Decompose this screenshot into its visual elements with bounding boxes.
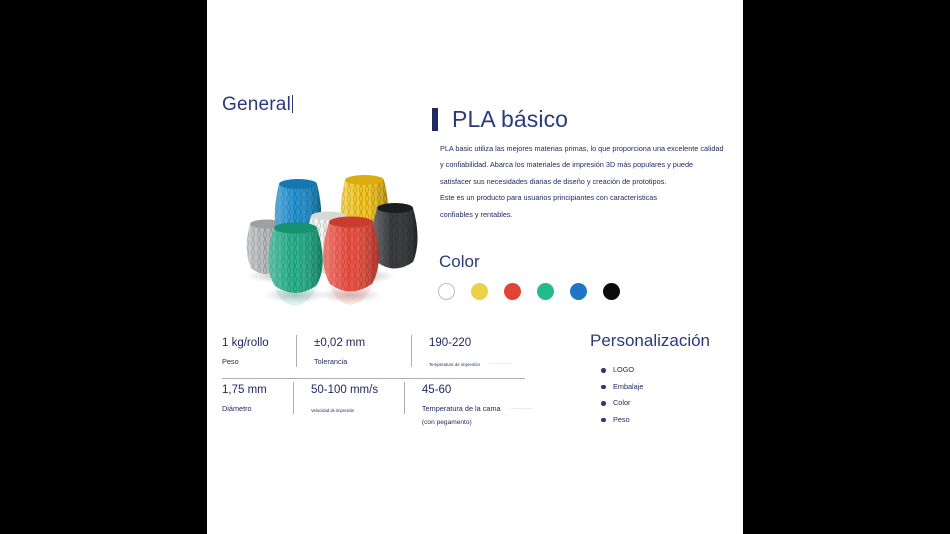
description-line-1: PLA basic utiliza las mejores materias p… <box>440 141 730 157</box>
spec-value-temperatura-cama: 45-60 <box>422 383 533 397</box>
personalizacion-item-embalaje: Embalaje <box>613 382 643 391</box>
spec-value-diametro: 1,75 mm <box>222 383 293 397</box>
color-swatch-blanco[interactable] <box>438 283 455 300</box>
spec-note-temperatura-cama: ——————— <box>511 403 533 414</box>
specifications-table: 1 kg/rollo Peso ±0,02 mm Tolerancia 190-… <box>221 332 533 433</box>
spec-label-velocidad-impresion: Velocidad de impresión <box>311 405 404 416</box>
letterbox-bar-left <box>0 0 207 534</box>
accent-bar-icon <box>432 108 438 131</box>
spec-value-temperatura-impresion: 190-220 <box>429 336 533 350</box>
color-swatch-amarillo[interactable] <box>471 283 488 300</box>
color-swatch-list <box>438 283 620 300</box>
spec-cell-temperatura-cama: 45-60 Temperatura de la cama——————— (con… <box>404 379 533 433</box>
spec-label-temperatura-cama-text: Temperatura de la cama <box>422 404 501 413</box>
spec-label-temperatura-impresion: Temperatura de impresión——————— <box>429 358 533 370</box>
bullet-icon <box>601 385 606 390</box>
list-item: Embalaje <box>601 379 735 396</box>
spec-label-tolerancia: Tolerancia <box>314 356 411 367</box>
personalizacion-section: Personalización LOGO Embalaje Color Peso <box>590 331 735 428</box>
spec-cell-diametro: 1,75 mm Diámetro <box>221 379 293 433</box>
personalizacion-item-logo: LOGO <box>613 365 634 374</box>
color-swatch-azul[interactable] <box>570 283 587 300</box>
personalizacion-item-color: Color <box>613 398 630 407</box>
spec-value-tolerancia: ±0,02 mm <box>314 336 411 350</box>
spec-cell-temperatura-impresion: 190-220 Temperatura de impresión——————— <box>411 332 533 378</box>
spec-label-diametro: Diámetro <box>222 403 293 414</box>
product-title-row: PLA básico <box>432 106 568 133</box>
page-title-general[interactable]: General <box>222 94 293 116</box>
spec-cell-peso: 1 kg/rollo Peso <box>221 332 296 378</box>
description-line-2: y confiabilidad. Abarca los materiales d… <box>440 157 730 173</box>
letterbox-bar-right <box>743 0 950 534</box>
color-section-heading: Color <box>439 252 480 272</box>
spec-cell-velocidad-impresion: 50-100 mm/s Velocidad de impresión <box>293 379 404 433</box>
spec-row-2: 1,75 mm Diámetro 50-100 mm/s Velocidad d… <box>221 379 533 433</box>
list-item: LOGO <box>601 362 735 379</box>
spec-cell-tolerancia: ±0,02 mm Tolerancia <box>296 332 411 378</box>
spec-label-temperatura-impresion-text: Temperatura de impresión <box>429 362 480 367</box>
list-item: Peso <box>601 412 735 429</box>
spec-row-1: 1 kg/rollo Peso ±0,02 mm Tolerancia 190-… <box>221 332 533 378</box>
personalizacion-heading: Personalización <box>590 331 735 351</box>
document-page: General <box>207 0 743 534</box>
spec-note-temperatura-impresion: ——————— <box>490 358 512 369</box>
general-heading-text: General <box>222 94 291 115</box>
description-line-3: satisfacer sus necesidades diarias de di… <box>440 174 730 190</box>
bullet-icon <box>601 418 606 423</box>
personalizacion-item-peso: Peso <box>613 415 630 424</box>
color-swatch-verde-azulado[interactable] <box>537 283 554 300</box>
description-line-4: Este es un producto para usuarios princi… <box>440 190 730 206</box>
product-description: PLA basic utiliza las mejores materias p… <box>440 141 730 223</box>
description-line-5: confiables y rentables. <box>440 207 730 223</box>
spec-sub-temperatura-cama: (con pegamento) <box>422 419 533 426</box>
spec-label-temperatura-cama: Temperatura de la cama——————— <box>422 403 533 414</box>
vases-illustration <box>217 158 429 310</box>
product-photo-vases <box>217 158 429 310</box>
bullet-icon <box>601 368 606 373</box>
screenshot-stage: General <box>0 0 950 534</box>
spec-value-velocidad-impresion: 50-100 mm/s <box>311 383 404 397</box>
spec-label-peso: Peso <box>222 356 296 367</box>
color-swatch-negro[interactable] <box>603 283 620 300</box>
product-title: PLA básico <box>452 106 568 133</box>
personalizacion-list: LOGO Embalaje Color Peso <box>590 362 735 428</box>
spec-value-peso: 1 kg/rollo <box>222 336 296 350</box>
color-swatch-rojo[interactable] <box>504 283 521 300</box>
bullet-icon <box>601 401 606 406</box>
list-item: Color <box>601 395 735 412</box>
text-caret <box>292 95 293 113</box>
